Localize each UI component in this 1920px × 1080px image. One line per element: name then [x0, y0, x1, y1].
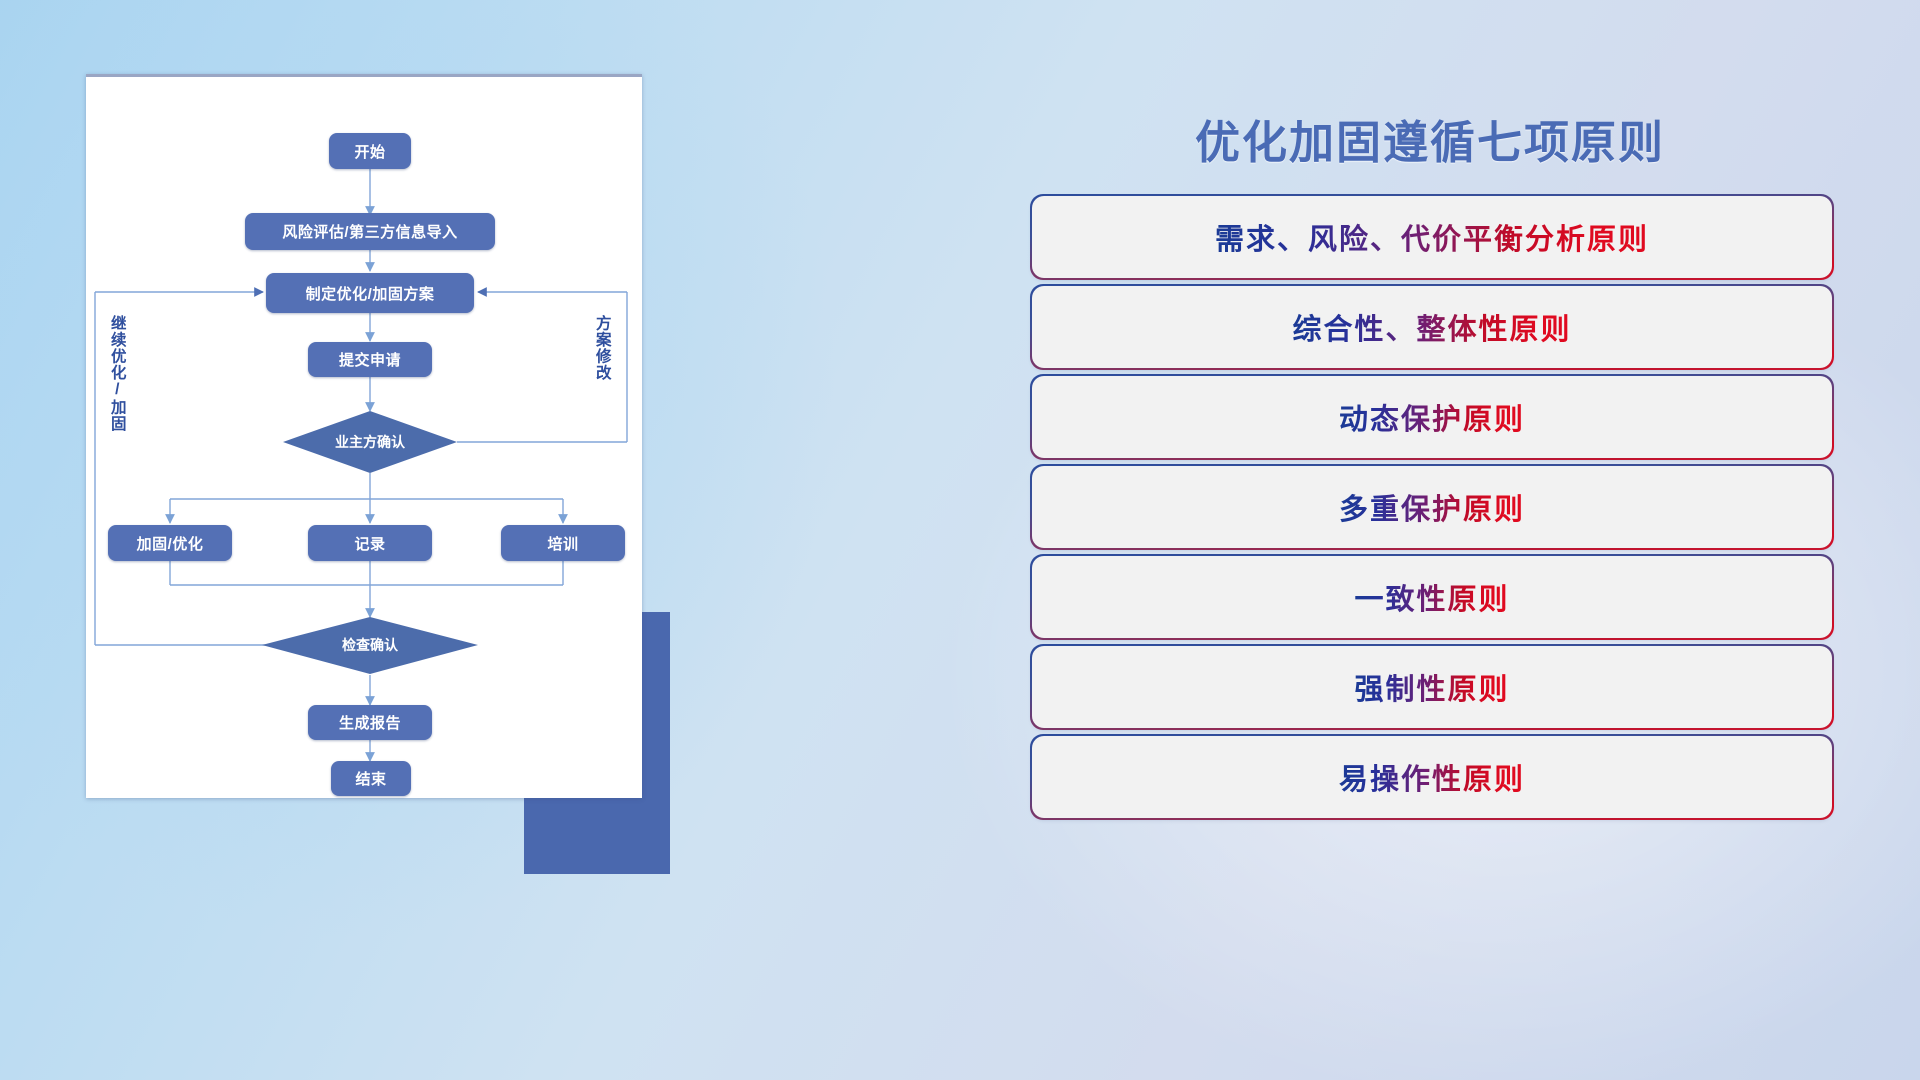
principle-card-inner: 需求、风险、代价平衡分析原则	[1034, 198, 1831, 277]
principle-label: 需求、风险、代价平衡分析原则	[1215, 216, 1649, 258]
page-title: 优化加固遵循七项原则	[1020, 106, 1840, 171]
flowchart-connectors	[86, 77, 642, 801]
flow-node-label: 记录	[354, 533, 385, 554]
principle-card-inner: 易操作性原则	[1034, 738, 1831, 817]
decision-check-diamond	[262, 617, 478, 674]
principle-card[interactable]: 需求、风险、代价平衡分析原则	[1032, 196, 1832, 278]
flow-edge-label-continue-optimize: 继续优化/加固	[109, 315, 125, 432]
flow-node-label: 风险评估/第三方信息导入	[282, 221, 457, 242]
flow-node-start[interactable]: 开始	[329, 133, 411, 169]
edge-label-text: 继续优化/加固	[109, 315, 126, 432]
flowchart-card: 开始 风险评估/第三方信息导入 制定优化/加固方案 提交申请 业主方确认 加固/…	[86, 74, 642, 798]
flow-node-reinforce-optimize[interactable]: 加固/优化	[108, 525, 232, 561]
flow-node-record[interactable]: 记录	[308, 525, 432, 561]
principle-card[interactable]: 多重保护原则	[1032, 466, 1832, 548]
flow-node-make-plan[interactable]: 制定优化/加固方案	[266, 273, 474, 313]
principle-card[interactable]: 强制性原则	[1032, 646, 1832, 728]
principle-card-inner: 强制性原则	[1034, 648, 1831, 727]
principle-label: 综合性、整体性原则	[1292, 306, 1571, 348]
flow-node-label: 培训	[547, 533, 578, 554]
flow-node-label: 结束	[355, 768, 386, 789]
principles-list: 需求、风险、代价平衡分析原则 综合性、整体性原则 动态保护原则 多重保护原则 一…	[1032, 196, 1832, 826]
flow-node-label: 提交申请	[339, 349, 401, 370]
principle-label: 一致性原则	[1354, 576, 1509, 618]
flow-node-label: 开始	[354, 141, 385, 162]
decision-owner-diamond	[283, 411, 457, 473]
principle-card-inner: 一致性原则	[1034, 558, 1831, 637]
flow-node-submit-application[interactable]: 提交申请	[308, 342, 432, 377]
flow-node-label: 制定优化/加固方案	[306, 283, 435, 304]
flow-node-label: 生成报告	[339, 712, 401, 733]
principle-card[interactable]: 综合性、整体性原则	[1032, 286, 1832, 368]
flow-node-training[interactable]: 培训	[501, 525, 625, 561]
principle-label: 易操作性原则	[1339, 756, 1525, 798]
flow-edge-label-plan-revision: 方案修改	[594, 315, 610, 381]
principle-label: 动态保护原则	[1339, 396, 1525, 438]
principle-card-inner: 综合性、整体性原则	[1034, 288, 1831, 367]
principle-card[interactable]: 一致性原则	[1032, 556, 1832, 638]
flowchart-panel: 开始 风险评估/第三方信息导入 制定优化/加固方案 提交申请 业主方确认 加固/…	[86, 74, 662, 810]
flow-node-generate-report[interactable]: 生成报告	[308, 705, 432, 740]
principle-label: 多重保护原则	[1339, 486, 1525, 528]
principles-panel: 优化加固遵循七项原则 需求、风险、代价平衡分析原则 综合性、整体性原则 动态保护…	[1020, 80, 1840, 1020]
principle-card[interactable]: 易操作性原则	[1032, 736, 1832, 818]
flow-node-label: 加固/优化	[137, 533, 204, 554]
principle-label: 强制性原则	[1354, 666, 1509, 708]
flow-node-end[interactable]: 结束	[331, 761, 411, 796]
principle-card-inner: 多重保护原则	[1034, 468, 1831, 547]
edge-label-text: 方案修改	[594, 315, 611, 381]
flow-node-risk-assessment[interactable]: 风险评估/第三方信息导入	[245, 213, 495, 250]
principle-card-inner: 动态保护原则	[1034, 378, 1831, 457]
principle-card[interactable]: 动态保护原则	[1032, 376, 1832, 458]
